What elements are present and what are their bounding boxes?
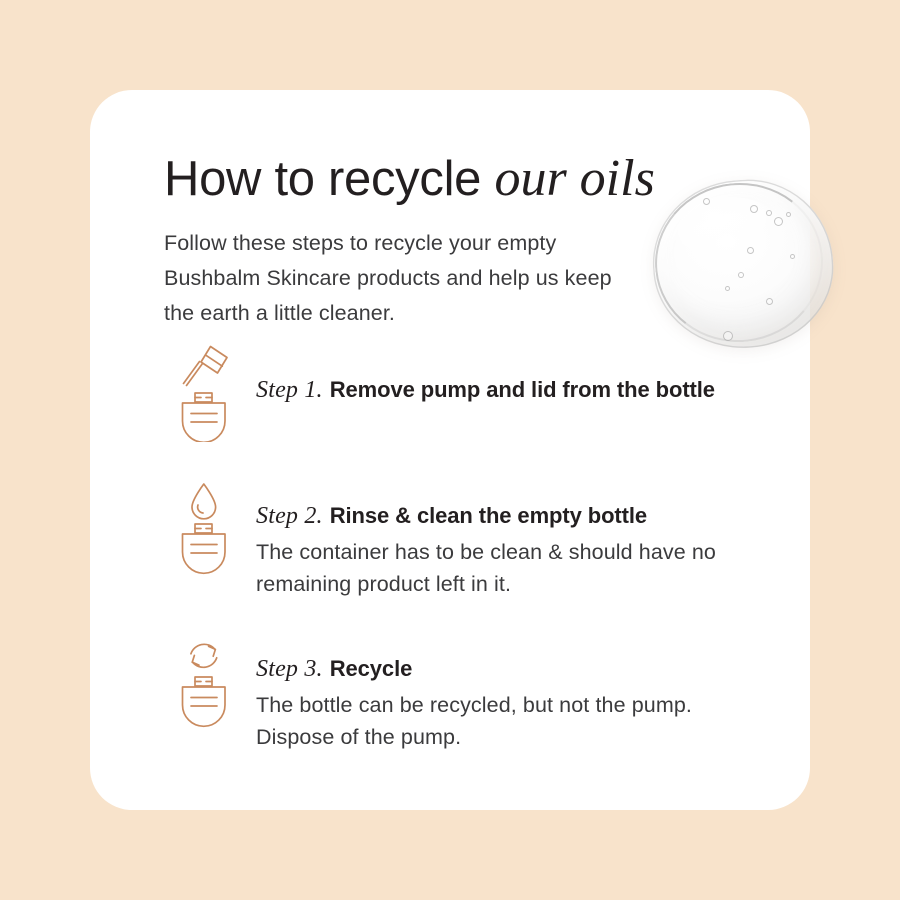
step-text-block: Step 3.Recycle The bottle can be recycle… (256, 633, 804, 754)
intro-paragraph: Follow these steps to recycle your empty… (164, 208, 634, 330)
step-icon-slot (164, 480, 256, 582)
water-drop-bottle-icon (172, 480, 248, 582)
step-number-label: Step 3. (256, 656, 330, 682)
page-title-plain: How to recycle (164, 152, 494, 206)
step-title: Remove pump and lid from the bottle (330, 377, 715, 402)
step-description: The bottle can be recycled, but not the … (256, 685, 776, 754)
step-text-block: Step 2.Rinse & clean the empty bottle Th… (256, 480, 804, 601)
steps-list: Step 1.Remove pump and lid from the bott… (164, 340, 804, 754)
step-item: Step 2.Rinse & clean the empty bottle Th… (164, 480, 804, 601)
step-title: Recycle (330, 656, 412, 681)
step-number-label: Step 1. (256, 377, 330, 403)
step-title: Rinse & clean the empty bottle (330, 503, 647, 528)
page-title: How to recycle our oils (164, 150, 784, 208)
poster-canvas: How to recycle our oils Follow these ste… (0, 0, 900, 900)
recycle-arrows-bottle-icon (172, 633, 248, 735)
step-text-block: Step 1.Remove pump and lid from the bott… (256, 340, 804, 406)
step-heading: Step 1.Remove pump and lid from the bott… (256, 374, 804, 406)
step-item: Step 1.Remove pump and lid from the bott… (164, 340, 804, 442)
dropper-bottle-icon (172, 340, 248, 442)
step-heading: Step 3.Recycle (256, 653, 804, 685)
step-icon-slot (164, 340, 256, 442)
step-number-label: Step 2. (256, 503, 330, 529)
step-item: Step 3.Recycle The bottle can be recycle… (164, 633, 804, 754)
header-block: How to recycle our oils Follow these ste… (164, 150, 784, 331)
step-icon-slot (164, 633, 256, 735)
step-description: The container has to be clean & should h… (256, 532, 776, 601)
page-title-accent: our oils (494, 150, 654, 207)
step-heading: Step 2.Rinse & clean the empty bottle (256, 500, 804, 532)
